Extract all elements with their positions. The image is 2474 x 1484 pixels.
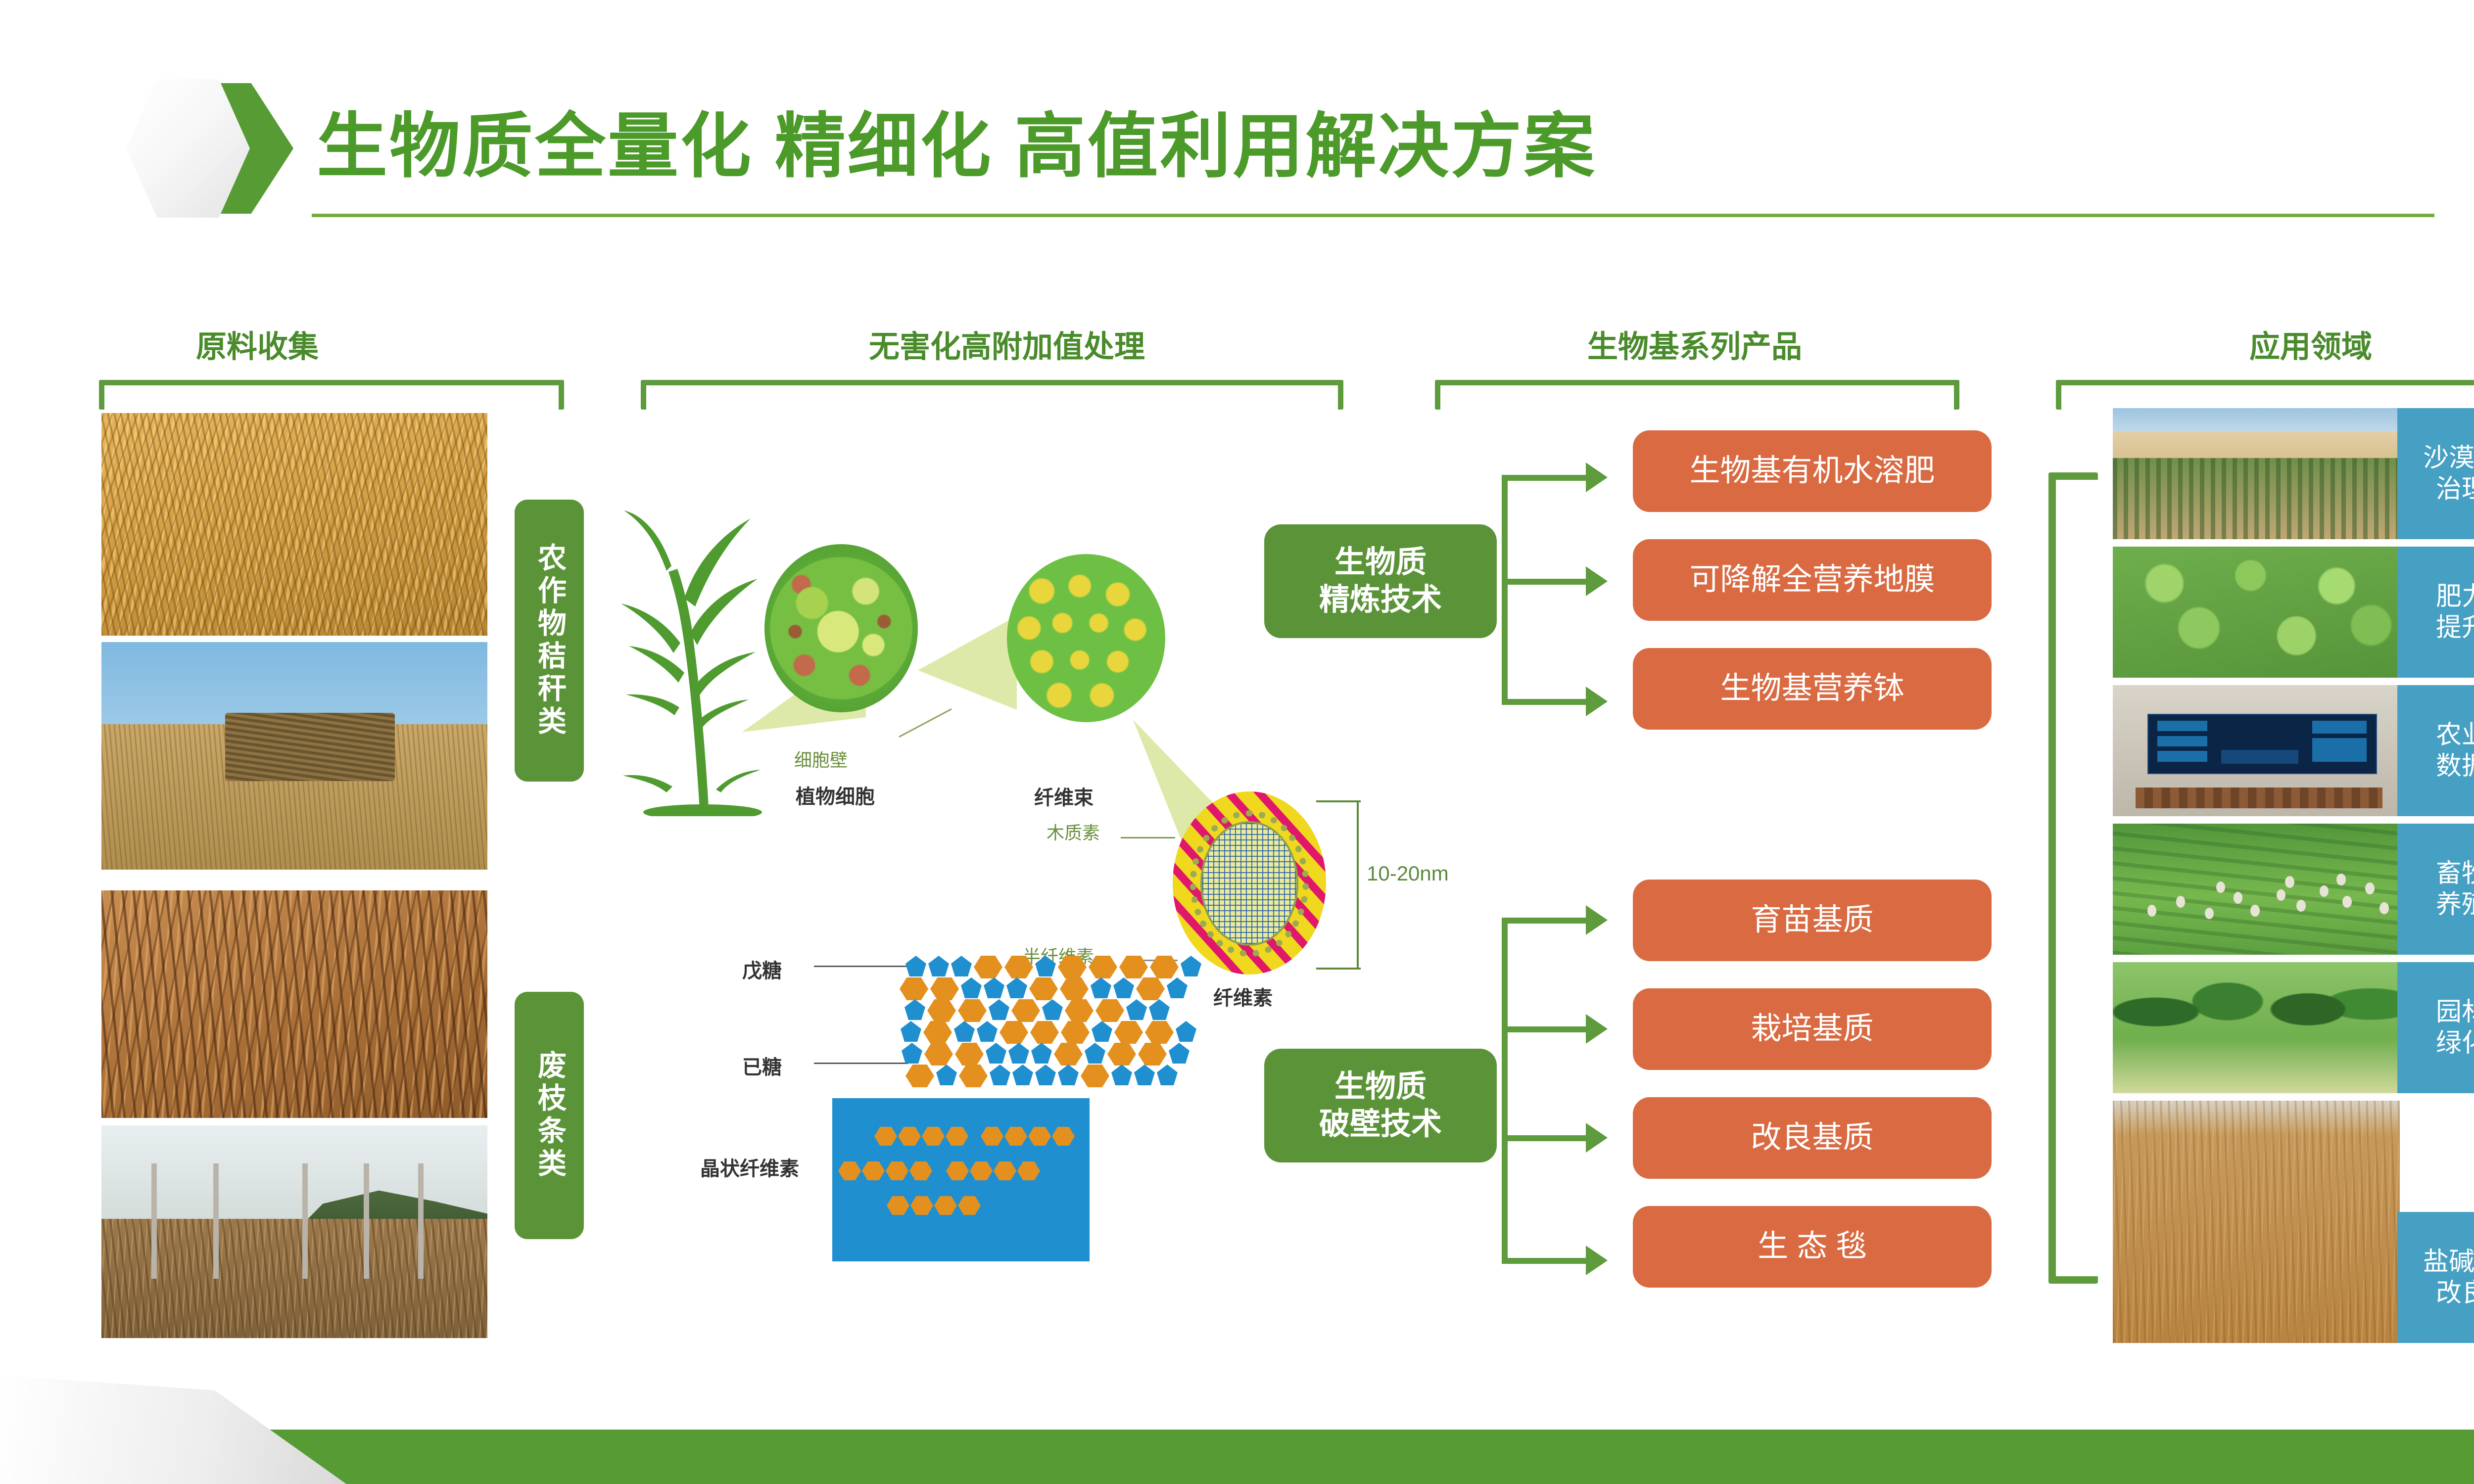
- hexose-leader-line: [814, 1063, 908, 1064]
- bracket-processing: [641, 380, 1343, 410]
- fiber-dimension-label: 10-20nm: [1367, 862, 1449, 885]
- app-label-line2: 绿化: [2436, 1028, 2474, 1059]
- hexagon-chevron-logo: [126, 79, 294, 218]
- applications-bracket: [2048, 472, 2098, 1284]
- crystalline-cellulose-panel: [832, 1098, 1090, 1261]
- product-box-cultivation-substrate[interactable]: 栽培基质: [1633, 988, 1992, 1070]
- tech-box-refining[interactable]: 生物质 精炼技术: [1264, 524, 1497, 638]
- app-label-line1: 畜牧: [2436, 858, 2474, 889]
- app-label-line1: 园林: [2436, 997, 2474, 1027]
- app-label-line1: 农业: [2436, 720, 2474, 750]
- section-title-processing: 无害化高附加值处理: [747, 322, 1267, 366]
- tech-box-cell-wall-breaking[interactable]: 生物质 破壁技术: [1264, 1049, 1497, 1162]
- hexose-label: 已糖: [742, 1051, 782, 1080]
- crystalline-cellulose-label: 晶状纤维素: [700, 1153, 799, 1181]
- agriculture-data-control-room-photo: [2113, 685, 2400, 816]
- footer-bar: [0, 1430, 2474, 1484]
- straw-bale-field-photo: [101, 642, 487, 870]
- app-label-line1: 肥力: [2436, 581, 2474, 612]
- tech-refining-line2: 精炼技术: [1319, 581, 1442, 619]
- application-label-fertility-improvement[interactable]: 肥力 提升: [2397, 547, 2474, 678]
- bracket-products: [1435, 380, 1959, 410]
- product-box-biodegradable-mulch-film[interactable]: 可降解全营养地膜: [1633, 539, 1992, 621]
- fiber-bundle-label: 纤维束: [1034, 782, 1094, 810]
- dimension-tick-top: [1316, 800, 1361, 802]
- orchard-pruning-collection-photo: [101, 1125, 487, 1338]
- fiber-bundle-illustration: [1007, 554, 1165, 722]
- application-label-saline-alkali-improvement[interactable]: 盐碱地 改良: [2397, 1212, 2474, 1343]
- product-box-seedling-substrate[interactable]: 育苗基质: [1633, 880, 1992, 961]
- plant-cell-illustration: [764, 544, 918, 712]
- cellulose-label: 纤维素: [1213, 982, 1273, 1011]
- product-box-nutrition-pot[interactable]: 生物基营养钵: [1633, 648, 1992, 730]
- bracket-applications: [2056, 380, 2474, 410]
- lignin-leader-line: [1121, 837, 1175, 838]
- lignin-label: 木质素: [1047, 819, 1100, 844]
- product-box-improvement-substrate[interactable]: 改良基质: [1633, 1097, 1992, 1179]
- cell-wall-label: 细胞壁: [794, 746, 848, 772]
- tech-refining-line1: 生物质: [1334, 544, 1427, 581]
- tech-breaking-line1: 生物质: [1334, 1068, 1427, 1106]
- page-title: 生物质全量化 精细化 高值利用解决方案: [317, 89, 1596, 191]
- plant-cell-label: 植物细胞: [796, 781, 875, 809]
- app-label-line1: 盐碱地: [2423, 1247, 2474, 1277]
- pentose-label: 戊糖: [742, 955, 782, 983]
- app-label-line2: 改良: [2436, 1278, 2474, 1308]
- sheep-grazing-pasture-photo: [2113, 824, 2400, 955]
- feedstock-category-waste-branch: 废枝条类: [515, 992, 584, 1239]
- application-label-landscape-greening[interactable]: 园林 绿化: [2397, 962, 2474, 1093]
- product-box-water-soluble-fertilizer[interactable]: 生物基有机水溶肥: [1633, 430, 1992, 512]
- app-label-line2: 提升: [2436, 612, 2474, 643]
- landscape-greening-park-photo: [2113, 962, 2400, 1093]
- section-title-collection: 原料收集: [143, 322, 371, 366]
- dimension-tick-bottom: [1316, 968, 1361, 970]
- app-label-line1: 沙漠化: [2423, 443, 2474, 473]
- dimension-line-vertical: [1357, 800, 1359, 970]
- infographic-canvas: 生物质全量化 精细化 高值利用解决方案 原料收集 无害化高附加值处理 生物基系列…: [0, 0, 2474, 1484]
- magnify-cone-cell-to-bundle: [918, 616, 1022, 720]
- application-label-livestock-breeding[interactable]: 畜牧 养殖: [2397, 824, 2474, 955]
- application-label-desertification-control[interactable]: 沙漠化 治理: [2397, 408, 2474, 539]
- title-divider: [312, 214, 2434, 217]
- saline-alkali-land-photo: [2113, 1101, 2400, 1343]
- app-label-line2: 养殖: [2436, 889, 2474, 920]
- pentose-leader-line: [814, 966, 908, 967]
- section-title-products: 生物基系列产品: [1435, 322, 1954, 366]
- pruned-branches-closeup-photo: [101, 890, 487, 1118]
- tech-breaking-line2: 破壁技术: [1319, 1106, 1442, 1143]
- desert-control-site-photo: [2113, 408, 2400, 539]
- app-label-line2: 治理: [2436, 474, 2474, 505]
- feedstock-category-crop-straw: 农作物秸秆类: [515, 500, 584, 782]
- bracket-collection: [99, 380, 564, 410]
- product-box-ecological-blanket[interactable]: 生 态 毯: [1633, 1206, 1992, 1288]
- application-label-agriculture-data[interactable]: 农业 数据: [2397, 685, 2474, 816]
- app-label-line2: 数据: [2436, 751, 2474, 782]
- cabbage-field-photo: [2113, 547, 2400, 678]
- section-title-applications: 应用领域: [2147, 322, 2474, 366]
- cellulose-core-lattice: [1200, 821, 1298, 946]
- corn-stalk-field-photo: [101, 413, 487, 636]
